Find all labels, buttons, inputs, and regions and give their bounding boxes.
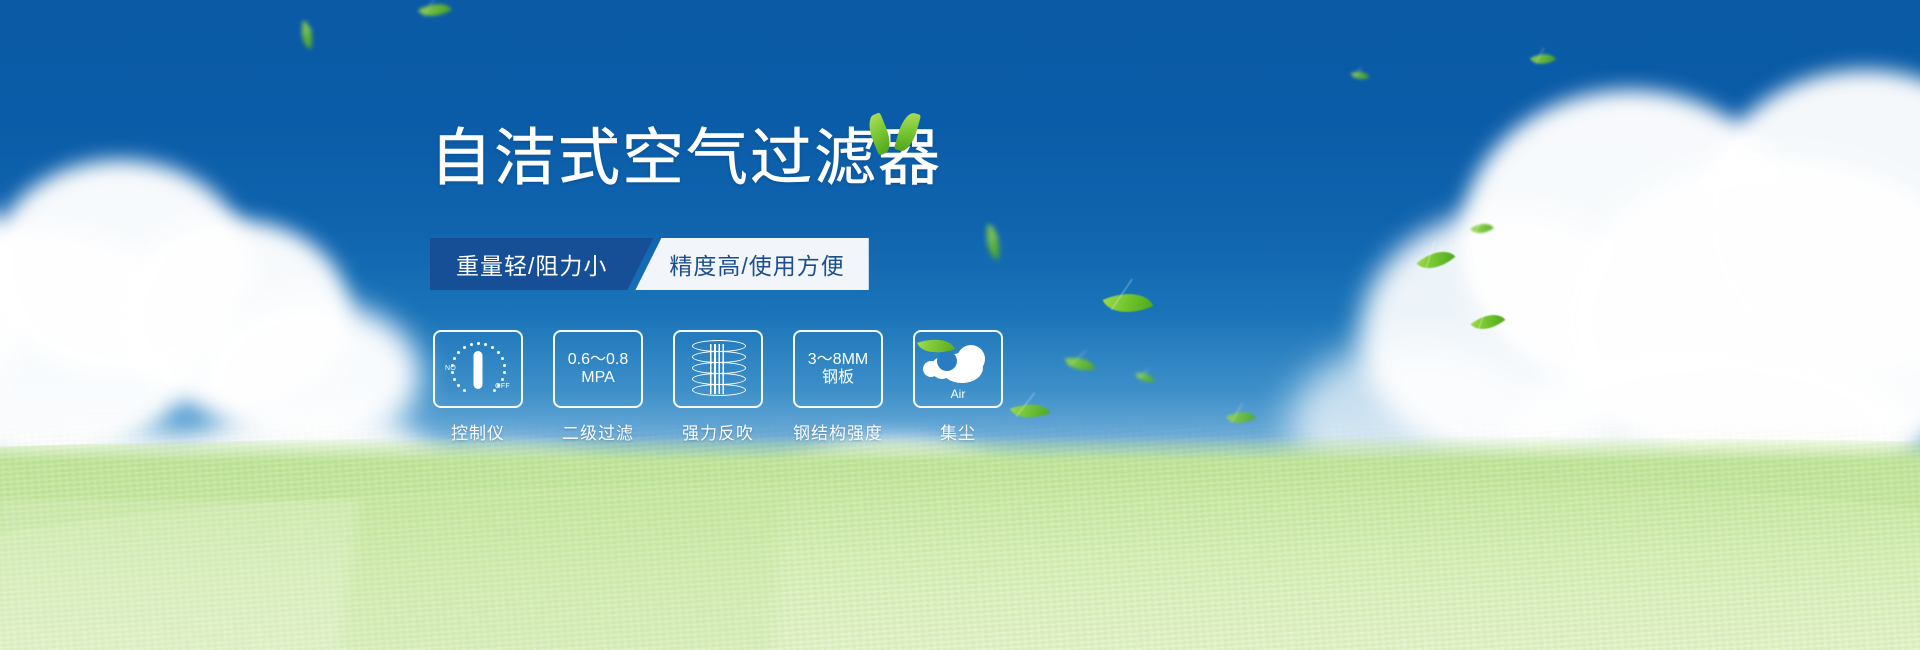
feature-item-controller[interactable]: NO OFF 控制仪: [434, 330, 522, 444]
feature-box: Air: [913, 330, 1003, 408]
sprout-leaves-icon: [869, 110, 929, 156]
feature-item-steel[interactable]: 3～8MM 钢板 钢结构强度: [794, 330, 882, 444]
feature-box: 0.6～0.8 MPA: [553, 330, 643, 408]
air-cloud-icon: Air: [923, 341, 993, 397]
pressure-unit: MPA: [568, 369, 629, 387]
feature-item-dust[interactable]: Air 集尘: [914, 330, 1002, 444]
feature-label: 强力反吹: [682, 419, 754, 444]
steel-material: 钢板: [808, 369, 868, 387]
banner-content: 自洁式空气过滤器 重量轻/阻力小 精度高/使用方便: [0, 0, 1920, 650]
feature-box: 3～8MM 钢板: [793, 330, 883, 408]
feature-box-text: 3～8MM 钢板: [808, 351, 868, 388]
feature-item-backblow[interactable]: 强力反吹: [674, 330, 762, 444]
steel-thickness: 3～8MM: [808, 351, 868, 369]
gauge-on-label: NO: [445, 365, 456, 372]
gauge-off-label: OFF: [495, 383, 510, 390]
feature-icon-list: NO OFF 控制仪 0.6～0.8 MPA 二级过滤: [434, 330, 1002, 444]
pressure-range: 0.6～0.8: [568, 351, 629, 369]
air-label: Air: [923, 387, 993, 401]
feature-box: [673, 330, 763, 408]
tab-precision-convenience[interactable]: 精度高/使用方便: [635, 238, 868, 290]
gauge-icon: NO OFF: [446, 340, 510, 398]
tab-weight-resistance[interactable]: 重量轻/阻力小: [430, 238, 653, 290]
feature-tabs: 重量轻/阻力小 精度高/使用方便: [430, 238, 869, 290]
feature-box: NO OFF: [433, 330, 523, 408]
page-title: 自洁式空气过滤器: [430, 128, 942, 190]
feature-label: 二级过滤: [562, 419, 634, 444]
feature-label: 控制仪: [451, 419, 505, 444]
feature-label: 钢结构强度: [793, 419, 883, 444]
feature-box-text: 0.6～0.8 MPA: [568, 351, 629, 388]
feature-item-filtration[interactable]: 0.6～0.8 MPA 二级过滤: [554, 330, 642, 444]
filter-cartridge-icon: [692, 340, 744, 398]
product-banner: 自洁式空气过滤器 重量轻/阻力小 精度高/使用方便: [0, 0, 1920, 650]
feature-label: 集尘: [940, 419, 976, 444]
